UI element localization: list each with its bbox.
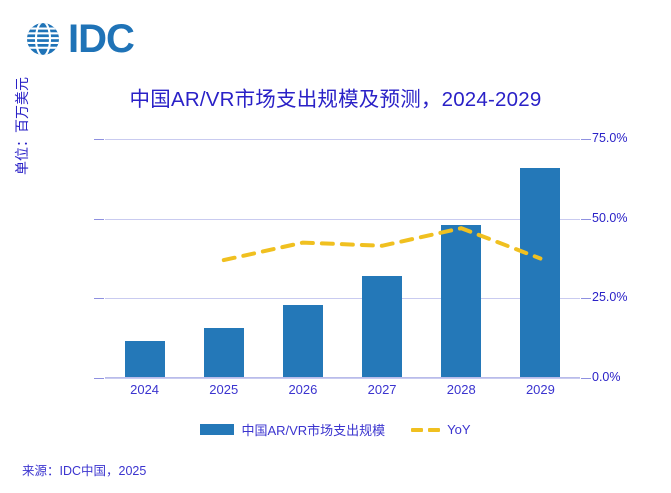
idc-logo: IDC	[22, 18, 134, 60]
y-tick-right	[581, 139, 591, 140]
y-tick-right	[581, 219, 591, 220]
gridline	[105, 378, 580, 379]
x-axis-baseline	[105, 377, 580, 379]
y-tick-left	[94, 139, 104, 140]
y-tick-right	[581, 298, 591, 299]
y-axis-right-tick-label: 75.0%	[592, 131, 627, 145]
y-tick-left	[94, 378, 104, 379]
x-axis-label-2024: 2024	[106, 382, 184, 397]
legend-item-bar[interactable]: 中国AR/VR市场支出规模	[200, 420, 385, 439]
x-axis-label-2025: 2025	[185, 382, 263, 397]
plot-area: 202420252026202720282029	[105, 139, 580, 378]
y-tick-left	[94, 298, 104, 299]
y-axis-title: 单位：百万美元	[12, 77, 32, 175]
legend-line-swatch	[411, 428, 440, 432]
source-note: 来源：IDC中国，2025	[22, 460, 146, 479]
y-axis-right-tick-label: 25.0%	[592, 290, 627, 304]
x-axis-label-2027: 2027	[343, 382, 421, 397]
legend-bar-swatch	[200, 424, 234, 435]
y-tick-left	[94, 219, 104, 220]
legend-bar-label: 中国AR/VR市场支出规模	[241, 420, 385, 439]
x-axis-label-2029: 2029	[501, 382, 579, 397]
globe-icon	[22, 18, 64, 60]
chart-title: 中国AR/VR市场支出规模及预测，2024-2029	[0, 82, 671, 112]
y-tick-right	[581, 378, 591, 379]
idc-wordmark: IDC	[68, 19, 134, 59]
legend-line-label: YoY	[447, 422, 470, 437]
y-axis-right-tick-label: 50.0%	[592, 211, 627, 225]
yoy-line-series	[105, 139, 580, 378]
x-axis-label-2028: 2028	[422, 382, 500, 397]
y-axis-right-labels: 0.0%25.0%50.0%75.0%	[592, 139, 671, 378]
legend-item-line[interactable]: YoY	[411, 422, 470, 437]
chart-legend: 中国AR/VR市场支出规模 YoY	[0, 420, 671, 439]
y-axis-right-tick-label: 0.0%	[592, 370, 621, 384]
x-axis-label-2026: 2026	[264, 382, 342, 397]
